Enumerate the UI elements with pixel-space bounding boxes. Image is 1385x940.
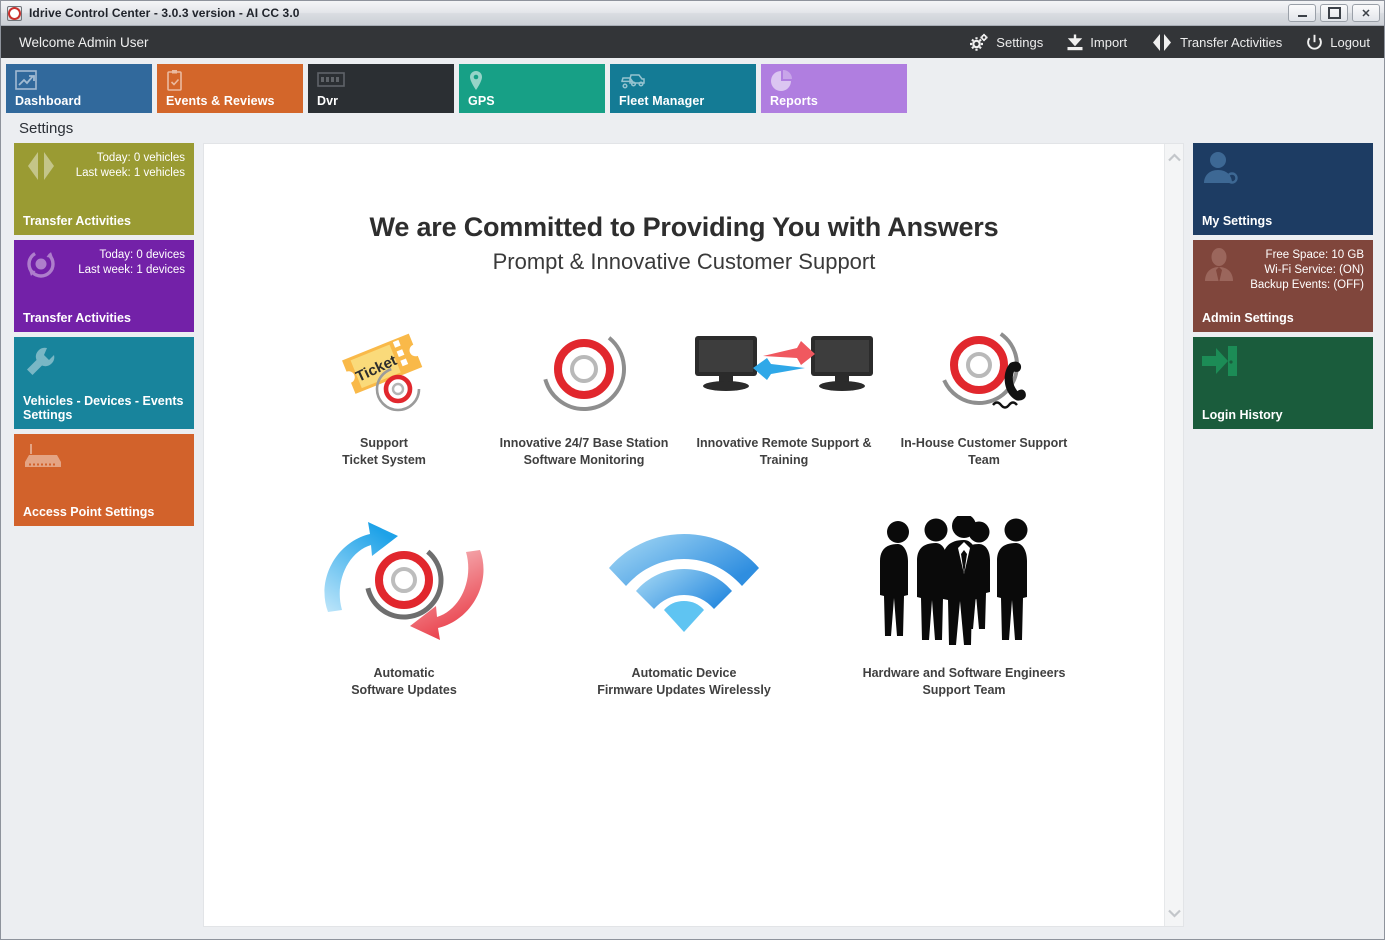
menu-transfer-label: Transfer Activities: [1180, 35, 1282, 50]
scroll-up-icon[interactable]: [1167, 150, 1181, 164]
team-silhouette-icon: [824, 511, 1104, 651]
tab-fleet-manager[interactable]: Fleet Manager: [610, 64, 756, 113]
right-tiles-panel: My Settings Free Space: 10 GB Wi-Fi Serv…: [1193, 143, 1373, 927]
breadcrumb-label: Settings: [19, 120, 73, 137]
power-icon: [1306, 34, 1323, 51]
page-subheadline: Prompt & Innovative Customer Support: [204, 249, 1164, 275]
gears-icon: [969, 33, 989, 51]
login-arrow-icon: [1202, 345, 1238, 382]
feature-remote-support-training: Innovative Remote Support & Training: [684, 317, 884, 469]
tile-title: Admin Settings: [1202, 311, 1364, 325]
tile-transfer-activities-vehicles[interactable]: Today: 0 vehicles Last week: 1 vehicles …: [14, 143, 194, 235]
feature-caption: In-House Customer Support Team: [884, 435, 1084, 469]
content-panel: We are Committed to Providing You with A…: [203, 143, 1184, 927]
user-gear-icon: [1202, 151, 1240, 192]
menu-settings[interactable]: Settings: [969, 33, 1043, 51]
download-icon: [1067, 34, 1083, 51]
target-icon: [7, 6, 22, 21]
tile-stat-line: Free Space: 10 GB: [1202, 248, 1364, 263]
hero-section: We are Committed to Providing You with A…: [204, 144, 1164, 275]
tile-stats: Free Space: 10 GB Wi-Fi Service: (ON) Ba…: [1202, 248, 1364, 293]
menu-logout[interactable]: Logout: [1306, 34, 1370, 51]
feature-caption: Automatic Software Updates: [264, 665, 544, 699]
target-phone-icon: [884, 317, 1084, 421]
target-rings-icon: [484, 317, 684, 421]
feature-caption: Automatic Device Firmware Updates Wirele…: [544, 665, 824, 699]
feature-hardware-software-engineers: Hardware and Software Engineers Support …: [824, 511, 1104, 699]
tab-events-reviews[interactable]: Events & Reviews: [157, 64, 303, 113]
tile-stat-line: Backup Events: (OFF): [1202, 278, 1364, 293]
menu-import-label: Import: [1090, 35, 1127, 50]
maximize-button[interactable]: [1320, 4, 1348, 22]
breadcrumb: Settings: [1, 113, 1384, 143]
tab-dashboard[interactable]: Dashboard: [6, 64, 152, 113]
tile-stat-line: Last week: 1 devices: [23, 263, 185, 278]
tile-access-point-settings[interactable]: Access Point Settings: [14, 434, 194, 526]
feature-device-firmware-updates: Automatic Device Firmware Updates Wirele…: [544, 511, 824, 699]
tile-stats: Today: 0 vehicles Last week: 1 vehicles: [23, 151, 185, 181]
page-headline: We are Committed to Providing You with A…: [204, 212, 1164, 243]
tile-vehicles-devices-events-settings[interactable]: Vehicles - Devices - Events Settings: [14, 337, 194, 429]
welcome-label: Welcome Admin User: [19, 35, 149, 50]
router-icon: [23, 442, 63, 477]
feature-in-house-support-team: In-House Customer Support Team: [884, 317, 1084, 469]
transfer-arrows-icon: [1151, 34, 1173, 51]
tile-stat-line: Today: 0 devices: [23, 248, 185, 263]
remote-monitors-icon: [684, 317, 884, 421]
minimize-button[interactable]: [1288, 4, 1316, 22]
menu-actions: Settings Import Transf: [969, 33, 1370, 51]
tab-dashboard-label: Dashboard: [15, 94, 81, 108]
tile-stat-line: Today: 0 vehicles: [23, 151, 185, 166]
main-nav-tabs: Dashboard Events & Reviews Dvr GPS: [1, 58, 1384, 113]
tile-admin-settings[interactable]: Free Space: 10 GB Wi-Fi Service: (ON) Ba…: [1193, 240, 1373, 332]
wifi-signal-icon: [544, 511, 824, 651]
menu-logout-label: Logout: [1330, 35, 1370, 50]
tab-reports-label: Reports: [770, 94, 818, 108]
menu-transfer-activities[interactable]: Transfer Activities: [1151, 34, 1282, 51]
feature-base-station-monitoring: Innovative 24/7 Base Station Software Mo…: [484, 317, 684, 469]
tab-gps[interactable]: GPS: [459, 64, 605, 113]
scroll-down-icon[interactable]: [1167, 906, 1181, 920]
tile-stat-line: Last week: 1 vehicles: [23, 166, 185, 181]
tab-reports[interactable]: Reports: [761, 64, 907, 113]
support-ticket-icon: Ticket: [284, 317, 484, 421]
content-vertical-scrollbar[interactable]: [1164, 144, 1183, 926]
feature-caption: Support Ticket System: [284, 435, 484, 469]
close-button[interactable]: ✕: [1352, 4, 1380, 22]
tile-stat-line: Wi-Fi Service: (ON): [1202, 263, 1364, 278]
feature-caption: Hardware and Software Engineers Support …: [824, 665, 1104, 699]
tab-dvr-label: Dvr: [317, 94, 338, 108]
tile-stats: Today: 0 devices Last week: 1 devices: [23, 248, 185, 278]
menu-settings-label: Settings: [996, 35, 1043, 50]
content-scroll-area: We are Committed to Providing You with A…: [204, 144, 1164, 926]
tab-gps-label: GPS: [468, 94, 495, 108]
tile-title: My Settings: [1202, 214, 1364, 228]
tile-my-settings[interactable]: My Settings: [1193, 143, 1373, 235]
feature-support-ticket-system: Ticket Support: [284, 317, 484, 469]
tile-title: Access Point Settings: [23, 505, 185, 519]
window-controls: ✕: [1288, 4, 1380, 22]
dvr-icon: [317, 77, 345, 94]
features-row-2: Automatic Software Updates: [264, 511, 1104, 699]
tile-title: Transfer Activities: [23, 311, 185, 325]
tile-login-history[interactable]: Login History: [1193, 337, 1373, 429]
application-window: Idrive Control Center - 3.0.3 version - …: [0, 0, 1385, 940]
features-row-1: Ticket Support: [264, 317, 1104, 469]
features-grid: Ticket Support: [204, 317, 1164, 699]
menu-import[interactable]: Import: [1067, 34, 1127, 51]
tab-fleet-manager-label: Fleet Manager: [619, 94, 704, 108]
tab-events-reviews-label: Events & Reviews: [166, 94, 275, 108]
tile-transfer-activities-devices[interactable]: Today: 0 devices Last week: 1 devices Tr…: [14, 240, 194, 332]
feature-caption: Innovative Remote Support & Training: [684, 435, 884, 469]
feature-automatic-software-updates: Automatic Software Updates: [264, 511, 544, 699]
tile-title: Vehicles - Devices - Events Settings: [23, 394, 185, 422]
vehicles-icon: [619, 77, 649, 94]
refresh-target-icon: [264, 511, 544, 651]
left-tiles-panel: Today: 0 vehicles Last week: 1 vehicles …: [14, 143, 194, 927]
wrench-icon: [23, 345, 59, 384]
title-bar: Idrive Control Center - 3.0.3 version - …: [1, 1, 1384, 26]
tab-dvr[interactable]: Dvr: [308, 64, 454, 113]
top-menu-bar: Welcome Admin User Settings: [1, 26, 1384, 58]
tile-title: Transfer Activities: [23, 214, 185, 228]
page-body: Today: 0 vehicles Last week: 1 vehicles …: [1, 143, 1384, 939]
tile-title: Login History: [1202, 408, 1364, 422]
feature-caption: Innovative 24/7 Base Station Software Mo…: [484, 435, 684, 469]
window-title: Idrive Control Center - 3.0.3 version - …: [29, 6, 300, 20]
